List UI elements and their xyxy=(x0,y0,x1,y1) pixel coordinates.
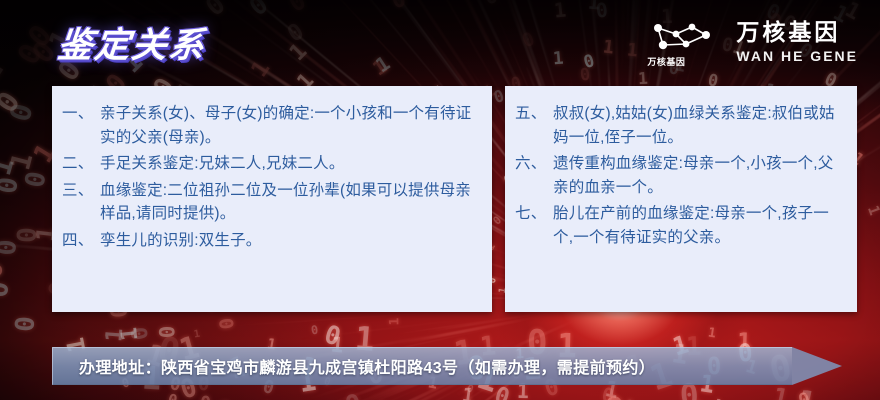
list-item: 四、 孪生儿的识别:双生子。 xyxy=(62,229,482,253)
list-item-number: 六、 xyxy=(515,152,553,199)
list-item: 五、 叔叔(女),姑姑(女)血绿关系鉴定:叔伯或姑妈一位,侄子一位。 xyxy=(515,102,847,149)
page-title: 鉴定关系 xyxy=(55,17,208,68)
list-item: 三、 血缘鉴定:二位祖孙二位及一位孙辈(如果可以提供母亲样品,请同时提供)。 xyxy=(62,179,482,226)
molecule-network-icon: 万核基因 xyxy=(646,18,722,66)
list-item-text: 遗传重构血缘鉴定:母亲一个,小孩一个,父亲的血亲一个。 xyxy=(553,152,847,199)
list-item-text: 手足关系鉴定:兄妹二人,兄妹二人。 xyxy=(100,152,482,176)
list-item: 一、 亲子关系(女)、母子(女)的确定:一个小孩和一个有待证实的父亲(母亲)。 xyxy=(62,102,482,149)
brand-lockup: 万核基因 万核基因 WAN HE GENE xyxy=(646,18,858,66)
brand-name-cn: 万核基因 xyxy=(736,21,858,44)
list-item-number: 五、 xyxy=(515,102,553,149)
list-item: 二、 手足关系鉴定:兄妹二人,兄妹二人。 xyxy=(62,152,482,176)
brand-name-en: WAN HE GENE xyxy=(736,49,858,63)
brand-mark-label: 万核基因 xyxy=(647,55,685,68)
panel-right: 五、 叔叔(女),姑姑(女)血绿关系鉴定:叔伯或姑妈一位,侄子一位。 六、 遗传… xyxy=(505,86,857,312)
list-item-number: 四、 xyxy=(62,229,100,253)
address-banner-arrow xyxy=(792,347,842,385)
panel-left: 一、 亲子关系(女)、母子(女)的确定:一个小孩和一个有待证实的父亲(母亲)。 … xyxy=(52,86,492,312)
slide-screen: 0101001011100000110111110010101101101011… xyxy=(0,0,880,400)
list-item-text: 胎儿在产前的血缘鉴定:母亲一个,孩子一个,一个有待证实的父亲。 xyxy=(553,202,847,249)
address-banner-body: 办理地址：陕西省宝鸡市麟游县九成宫镇杜阳路43号（如需办理，需提前预约） xyxy=(52,347,792,385)
list-item-text: 叔叔(女),姑姑(女)血绿关系鉴定:叔伯或姑妈一位,侄子一位。 xyxy=(553,102,847,149)
list-item-text: 血缘鉴定:二位祖孙二位及一位孙辈(如果可以提供母亲样品,请同时提供)。 xyxy=(100,179,482,226)
list-item-text: 孪生儿的识别:双生子。 xyxy=(100,229,482,253)
list-item: 六、 遗传重构血缘鉴定:母亲一个,小孩一个,父亲的血亲一个。 xyxy=(515,152,847,199)
list-item-text: 亲子关系(女)、母子(女)的确定:一个小孩和一个有待证实的父亲(母亲)。 xyxy=(100,102,482,149)
address-text: 办理地址：陕西省宝鸡市麟游县九成宫镇杜阳路43号（如需办理，需提前预约） xyxy=(53,354,655,378)
address-banner: 办理地址：陕西省宝鸡市麟游县九成宫镇杜阳路43号（如需办理，需提前预约） xyxy=(52,347,842,385)
content-panels: 一、 亲子关系(女)、母子(女)的确定:一个小孩和一个有待证实的父亲(母亲)。 … xyxy=(52,86,857,312)
list-item-number: 七、 xyxy=(515,202,553,249)
list-item-number: 二、 xyxy=(62,152,100,176)
list-item-number: 三、 xyxy=(62,179,100,226)
list-item: 七、 胎儿在产前的血缘鉴定:母亲一个,孩子一个,一个有待证实的父亲。 xyxy=(515,202,847,249)
list-item-number: 一、 xyxy=(62,102,100,149)
brand-names: 万核基因 WAN HE GENE xyxy=(736,21,858,63)
